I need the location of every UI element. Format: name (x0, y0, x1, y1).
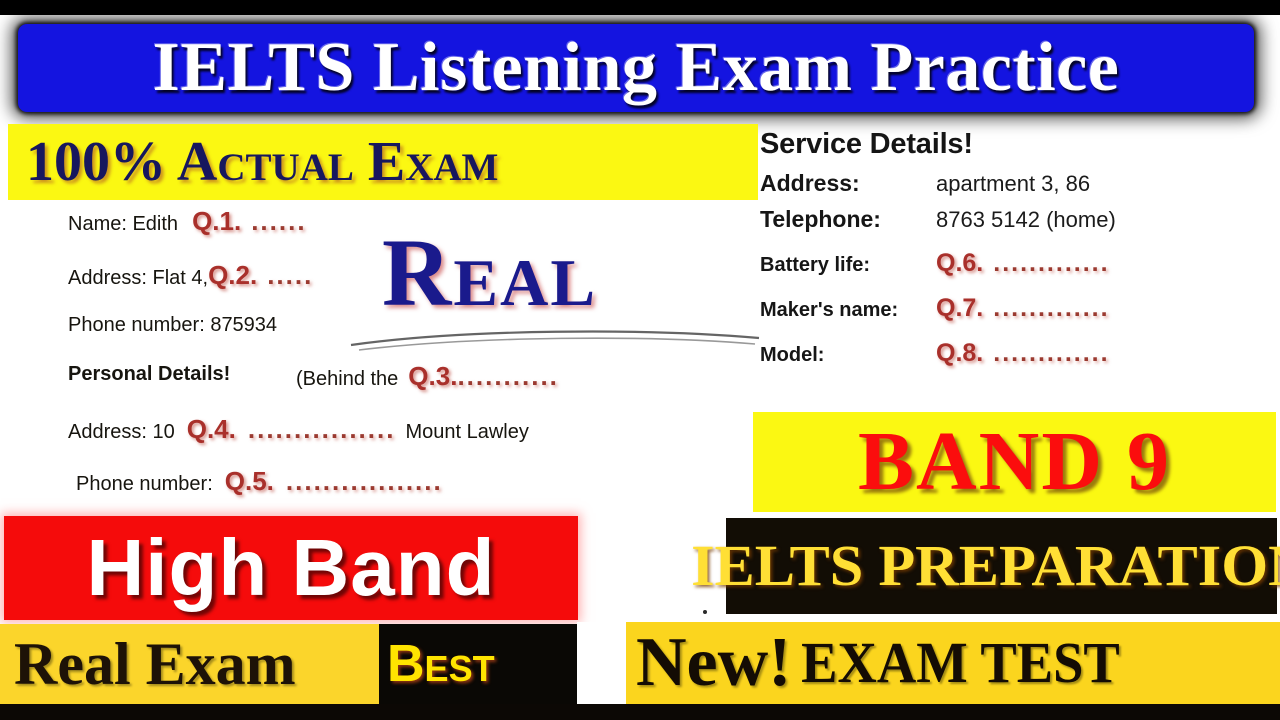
form-label-address-2: Address: 10 (68, 421, 175, 444)
band9-banner: BAND 9 (753, 412, 1276, 512)
service-label-address: Address: (760, 170, 936, 197)
service-label-battery-life: Battery life: (760, 254, 936, 277)
high-band-label: High Band (87, 528, 496, 608)
page-title: IELTS Listening Exam Practice (153, 33, 1120, 103)
answer-dots-1: ...... (251, 206, 306, 237)
top-black-bar (0, 0, 1280, 15)
new-label: New! (626, 628, 791, 698)
title-banner: IELTS Listening Exam Practice (18, 24, 1254, 112)
question-marker-7: Q.7. (936, 294, 983, 323)
form-row-address-2: Address: 10 Q.4. ................ Mount … (68, 414, 529, 445)
exam-test-label: EXAM TEST (802, 634, 1121, 692)
form-label-phone: Phone number: 875934 (68, 314, 277, 337)
answer-dots-4: ................ (248, 414, 396, 445)
bottom-black-bar (0, 704, 1280, 720)
stray-dot-mark (703, 610, 707, 614)
form-row-phone: Phone number: 875934 (68, 314, 277, 337)
service-label-makers-name: Maker's name: (760, 299, 936, 322)
service-value-telephone: 8763 5142 (home) (936, 207, 1116, 233)
service-row-battery-life: Battery life: Q.6. ............. (760, 249, 1276, 278)
ielts-preparation-banner: IELTS PREPARATION (726, 518, 1277, 614)
service-details-form: Service Details! Address: apartment 3, 8… (760, 128, 1276, 368)
form-row-phone-2: Phone number: Q.5. ................. (76, 466, 443, 497)
actual-exam-badge: 100% Actual Exam (8, 124, 758, 200)
answer-dots-2: ..... (267, 260, 313, 291)
real-exam-banner: Real Exam (0, 624, 379, 704)
swoosh-underline-icon (345, 326, 765, 352)
form-label-phone-2: Phone number: (76, 473, 213, 496)
best-banner: Best (379, 624, 577, 704)
actual-exam-label: 100% Actual Exam (8, 130, 498, 194)
form-label-behind: (Behind the (296, 368, 398, 391)
service-label-model: Model: (760, 344, 936, 367)
form-row-address: Address: Flat 4, Q.2. ..... (68, 260, 313, 291)
service-row-address: Address: apartment 3, 86 (760, 170, 1276, 197)
service-details-heading: Service Details! (760, 128, 1276, 161)
banner-gap (577, 622, 627, 704)
form-label-address: Address: Flat 4, (68, 267, 208, 290)
ielts-preparation-label: IELTS PREPARATION (691, 537, 1280, 595)
answer-dots-8: ............. (993, 339, 1109, 368)
band9-label: BAND 9 (858, 420, 1171, 504)
answer-dots-5: ................. (286, 466, 443, 497)
question-marker-2: Q.2. (208, 260, 257, 291)
form-value-suburb: Mount Lawley (405, 421, 528, 444)
form-label-name: Name: Edith (68, 213, 178, 236)
answer-dots-3: ........... (457, 361, 558, 392)
answer-dots-7: ............. (993, 294, 1109, 323)
real-watermark: Real (382, 225, 597, 321)
question-marker-4: Q.4. (187, 414, 236, 445)
question-marker-1: Q.1. (192, 206, 241, 237)
thumbnail-canvas: IELTS Listening Exam Practice 100% Actua… (0, 0, 1280, 720)
question-marker-5: Q.5. (225, 466, 274, 497)
question-marker-8: Q.8. (936, 339, 983, 368)
form-row-behind: (Behind the Q.3. ........... (296, 361, 559, 392)
service-label-telephone: Telephone: (760, 206, 936, 233)
real-exam-label: Real Exam (0, 634, 296, 694)
answer-dots-6: ............. (993, 249, 1109, 278)
question-marker-6: Q.6. (936, 249, 983, 278)
new-exam-test-banner: New! EXAM TEST (626, 622, 1280, 704)
form-row-name: Name: Edith Q.1. ...... (68, 206, 307, 237)
high-band-banner: High Band (4, 516, 578, 620)
question-marker-3: Q.3. (408, 361, 457, 392)
service-row-model: Model: Q.8. ............. (760, 339, 1276, 368)
service-row-telephone: Telephone: 8763 5142 (home) (760, 206, 1276, 233)
form-heading-personal-details: Personal Details! (68, 363, 230, 386)
service-row-makers-name: Maker's name: Q.7. ............. (760, 294, 1276, 323)
best-label: Best (379, 638, 495, 690)
form-section-personal-details: Personal Details! (68, 363, 230, 386)
service-value-address: apartment 3, 86 (936, 171, 1090, 197)
